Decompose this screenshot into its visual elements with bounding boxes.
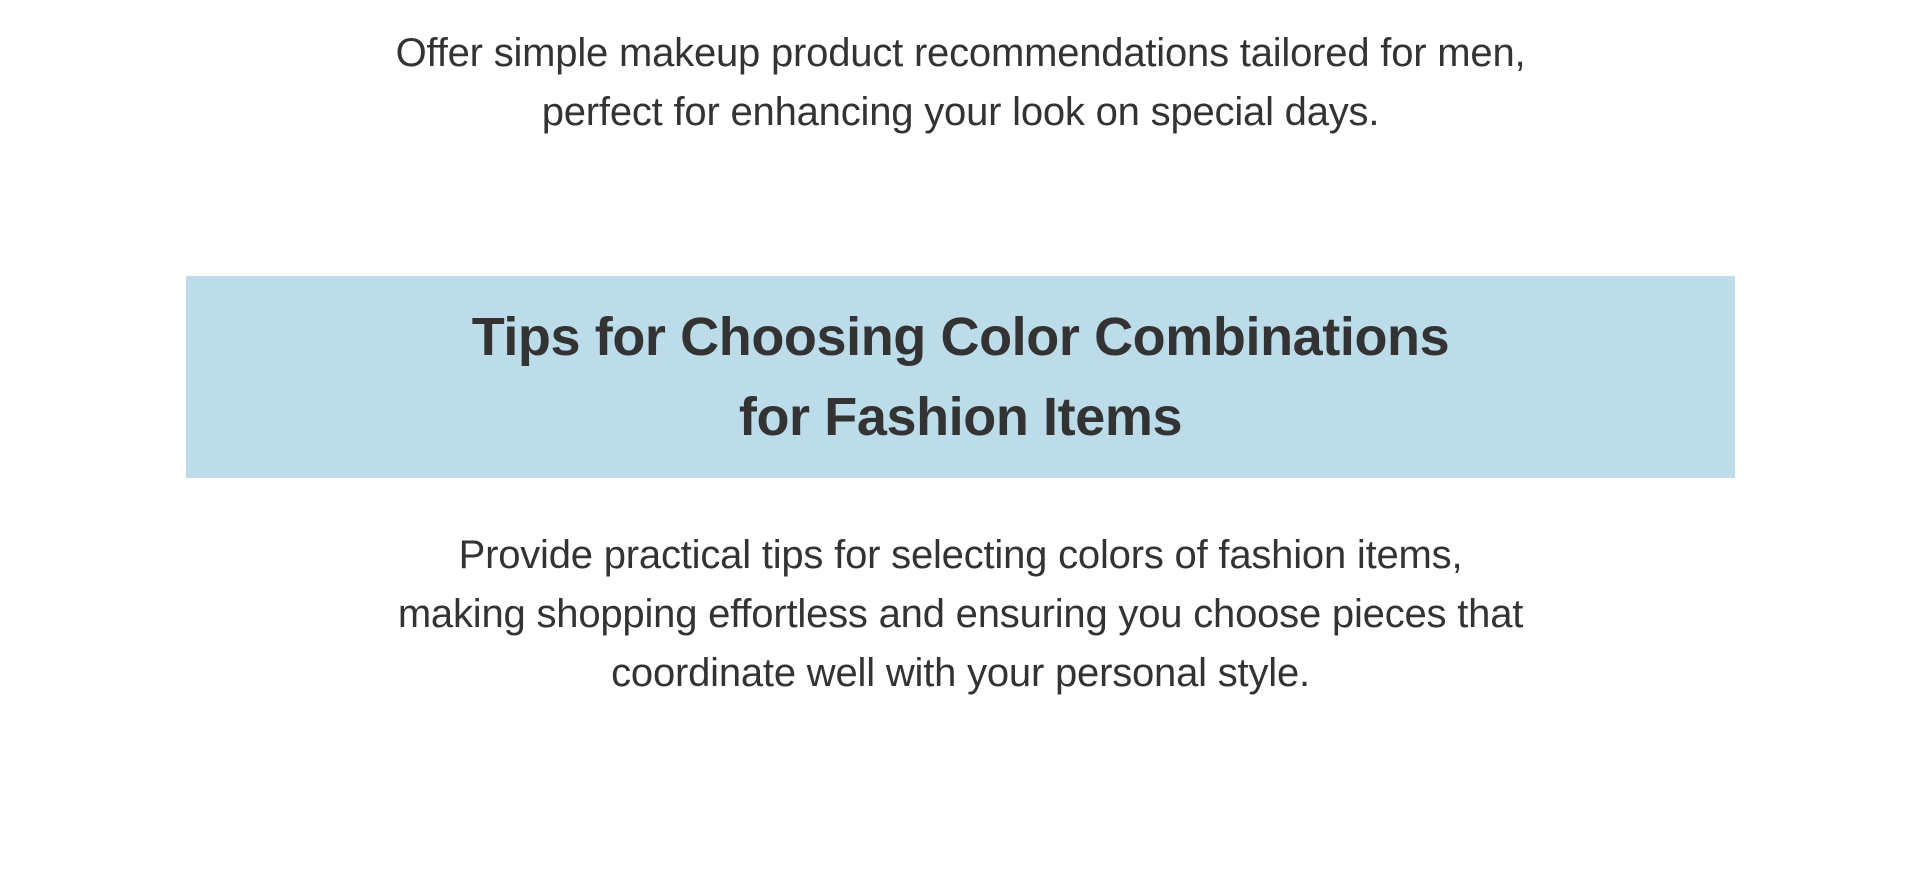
description-paragraph-line-3: coordinate well with your personal style… [186,644,1735,703]
section-heading-line-1: Tips for Choosing Color Combinations [472,297,1450,377]
section-heading-banner: Tips for Choosing Color Combinations for… [186,276,1735,478]
description-paragraph: Provide practical tips for selecting col… [186,526,1735,703]
intro-paragraph: Offer simple makeup product recommendati… [186,24,1735,142]
description-paragraph-line-2: making shopping effortless and ensuring … [186,585,1735,644]
section-heading-line-2: for Fashion Items [739,377,1182,457]
description-paragraph-line-1: Provide practical tips for selecting col… [186,526,1735,585]
intro-paragraph-line-2: perfect for enhancing your look on speci… [186,83,1735,142]
intro-paragraph-line-1: Offer simple makeup product recommendati… [186,24,1735,83]
page-root: Offer simple makeup product recommendati… [0,0,1920,886]
